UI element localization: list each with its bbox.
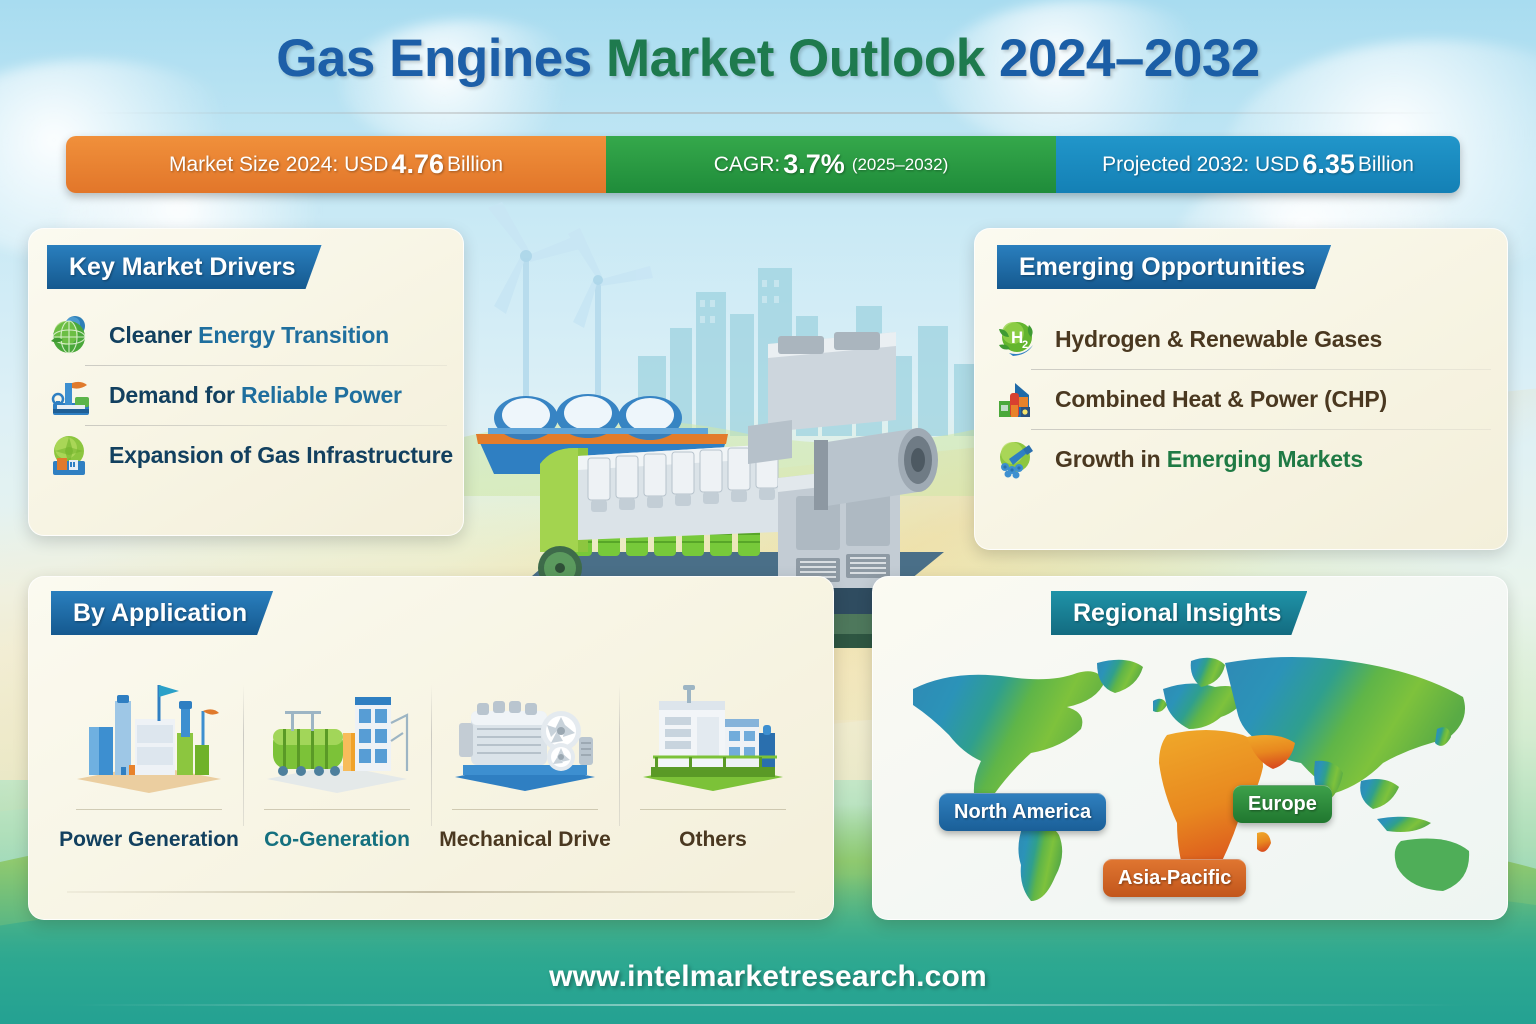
application-label-power-generation: Power Generation [59, 810, 239, 852]
emerging-opportunities-heading: Emerging Opportunities [997, 245, 1331, 289]
others-facility-illustration [627, 667, 799, 799]
region-label-asia-pacific-text: Asia-Pacific [1118, 867, 1231, 889]
cagr-value: 3.7% [780, 149, 848, 180]
title-part-2: Market Outlook [606, 29, 999, 88]
cagr-label-pre: CAGR: [714, 153, 781, 177]
region-label-asia-pacific[interactable]: Asia-Pacific [1103, 859, 1246, 897]
application-baseline [67, 891, 795, 893]
driver-label-1a: Cleaner [109, 322, 198, 348]
opportunity-item-hydrogen[interactable]: H 2 Hydrogen & Renewable Gases [975, 309, 1507, 369]
title-divider [90, 112, 1446, 114]
opportunity-item-emerging-markets[interactable]: Growth in Emerging Markets [975, 429, 1507, 489]
projected-stat: Projected 2032: USD 6.35 Billion [1056, 136, 1460, 193]
world-map: North America Europe Asia-Pacific Middle… [891, 643, 1493, 909]
hydrogen-h2-icon: H 2 [993, 315, 1041, 363]
chp-buildings-icon [993, 375, 1041, 423]
application-item-power-generation[interactable]: Power Generation [55, 667, 243, 852]
key-market-drivers-heading: Key Market Drivers [47, 245, 322, 289]
opportunity-label-3a: Growth in [1055, 446, 1167, 472]
by-application-heading: By Application [51, 591, 273, 635]
application-label-co-generation: Co-Generation [264, 810, 410, 852]
driver-label-2a: Demand for [109, 382, 241, 408]
driver-item-cleaner-energy[interactable]: Cleaner Energy Transition [29, 305, 463, 365]
cogeneration-illustration [251, 667, 423, 799]
power-plant-illustration [63, 667, 235, 799]
opportunity-label-3b: Emerging Markets [1167, 446, 1363, 472]
footer-url[interactable]: www.intelmarketresearch.com [0, 960, 1536, 994]
application-item-others[interactable]: Others [619, 667, 807, 852]
driver-label-2b: Reliable Power [241, 382, 402, 408]
projected-label-pre: Projected 2032: USD [1102, 153, 1299, 177]
emerging-markets-globe-icon [993, 435, 1041, 483]
driver-item-reliable-power[interactable]: Demand for Reliable Power [29, 365, 463, 425]
svg-text:2: 2 [1022, 339, 1028, 351]
cagr-stat: CAGR: 3.7%(2025–2032) [606, 136, 1056, 193]
driver-label-2: Demand for Reliable Power [109, 382, 402, 409]
market-size-label-pre: Market Size 2024: USD [169, 153, 388, 177]
page-title: Gas Engines Market Outlook 2024–2032 [0, 28, 1536, 89]
regional-insights-heading-label: Regional Insights [1073, 599, 1281, 628]
key-stats-bar: Market Size 2024: USD 4.76 Billion CAGR:… [66, 136, 1460, 193]
opportunity-label-2: Combined Heat & Power (CHP) [1055, 386, 1387, 413]
driver-item-gas-infrastructure[interactable]: Expansion of Gas Infrastructure [29, 425, 463, 485]
region-label-north-america-text: North America [954, 801, 1091, 823]
region-label-europe-text: Europe [1248, 793, 1317, 815]
emerging-opportunities-panel: Emerging Opportunities H 2 Hydrogen & Re… [974, 228, 1508, 550]
by-application-heading-label: By Application [73, 599, 247, 628]
application-label-mechanical-drive: Mechanical Drive [439, 810, 611, 852]
application-label-others: Others [679, 810, 747, 852]
projected-value: 6.35 [1299, 149, 1358, 180]
application-item-mechanical-drive[interactable]: Mechanical Drive [431, 667, 619, 852]
driver-label-1b: Energy Transition [198, 322, 389, 348]
market-size-value: 4.76 [388, 149, 447, 180]
region-label-europe[interactable]: Europe [1233, 785, 1332, 823]
projected-label-post: Billion [1358, 153, 1414, 177]
globe-energy-icon [47, 311, 95, 359]
regional-insights-heading: Regional Insights [1051, 591, 1307, 635]
region-label-north-america[interactable]: North America [939, 793, 1106, 831]
driver-label-1: Cleaner Energy Transition [109, 322, 389, 349]
application-list: Power Generation [55, 667, 807, 852]
cagr-period: (2025–2032) [848, 155, 948, 175]
driver-label-3: Expansion of Gas Infrastructure [109, 442, 453, 469]
emerging-opportunities-list: H 2 Hydrogen & Renewable Gases [975, 309, 1507, 489]
emerging-opportunities-heading-label: Emerging Opportunities [1019, 253, 1305, 282]
title-part-1: Gas Engines [276, 29, 606, 88]
market-size-stat: Market Size 2024: USD 4.76 Billion [66, 136, 606, 193]
market-size-label-post: Billion [447, 153, 503, 177]
opportunity-item-chp[interactable]: Combined Heat & Power (CHP) [975, 369, 1507, 429]
opportunity-label-1: Hydrogen & Renewable Gases [1055, 326, 1382, 353]
mechanical-drive-illustration [439, 667, 611, 799]
footer-url-text: www.intelmarketresearch.com [549, 960, 987, 993]
key-market-drivers-heading-label: Key Market Drivers [69, 253, 296, 282]
key-market-drivers-list: Cleaner Energy Transition Demand for Rel… [29, 305, 463, 485]
gas-infrastructure-icon [47, 431, 95, 479]
opportunity-label-3: Growth in Emerging Markets [1055, 446, 1363, 473]
application-item-co-generation[interactable]: Co-Generation [243, 667, 431, 852]
regional-insights-panel: Regional Insights [872, 576, 1508, 920]
footer-divider [70, 1004, 1466, 1006]
key-market-drivers-panel: Key Market Drivers C [28, 228, 464, 536]
by-application-panel: By Application [28, 576, 834, 920]
title-part-3: 2024–2032 [999, 29, 1260, 88]
power-plant-icon [47, 371, 95, 419]
